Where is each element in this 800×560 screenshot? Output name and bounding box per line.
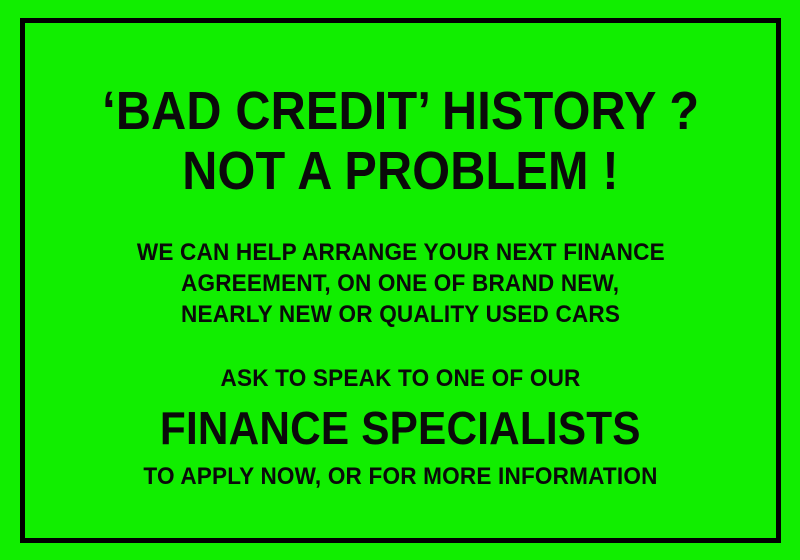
body-line-3: NEARLY NEW OR QUALITY USED CARS [181,299,620,330]
body-text-block: WE CAN HELP ARRANGE YOUR NEXT FINANCE AG… [120,237,682,330]
poster-content: ‘BAD CREDIT’ HISTORY ? NOT A PROBLEM ! W… [25,23,776,538]
cta-emphasis-text: FINANCE SPECIALISTS [160,400,641,456]
headline-line-2: NOT A PROBLEM ! [182,141,618,201]
call-to-action-block: ASK TO SPEAK TO ONE OF OUR FINANCE SPECI… [127,364,674,492]
body-line-2: AGREEMENT, ON ONE OF BRAND NEW, [181,268,619,299]
body-line-1: WE CAN HELP ARRANGE YOUR NEXT FINANCE [137,237,665,268]
headline-line-1: ‘BAD CREDIT’ HISTORY ? [102,81,699,141]
cta-footer-text: TO APPLY NOW, OR FOR MORE INFORMATION [143,462,657,492]
cta-lead-text: ASK TO SPEAK TO ONE OF OUR [220,364,580,394]
poster-canvas: ‘BAD CREDIT’ HISTORY ? NOT A PROBLEM ! W… [0,0,800,560]
headline-block: ‘BAD CREDIT’ HISTORY ? NOT A PROBLEM ! [69,81,732,201]
